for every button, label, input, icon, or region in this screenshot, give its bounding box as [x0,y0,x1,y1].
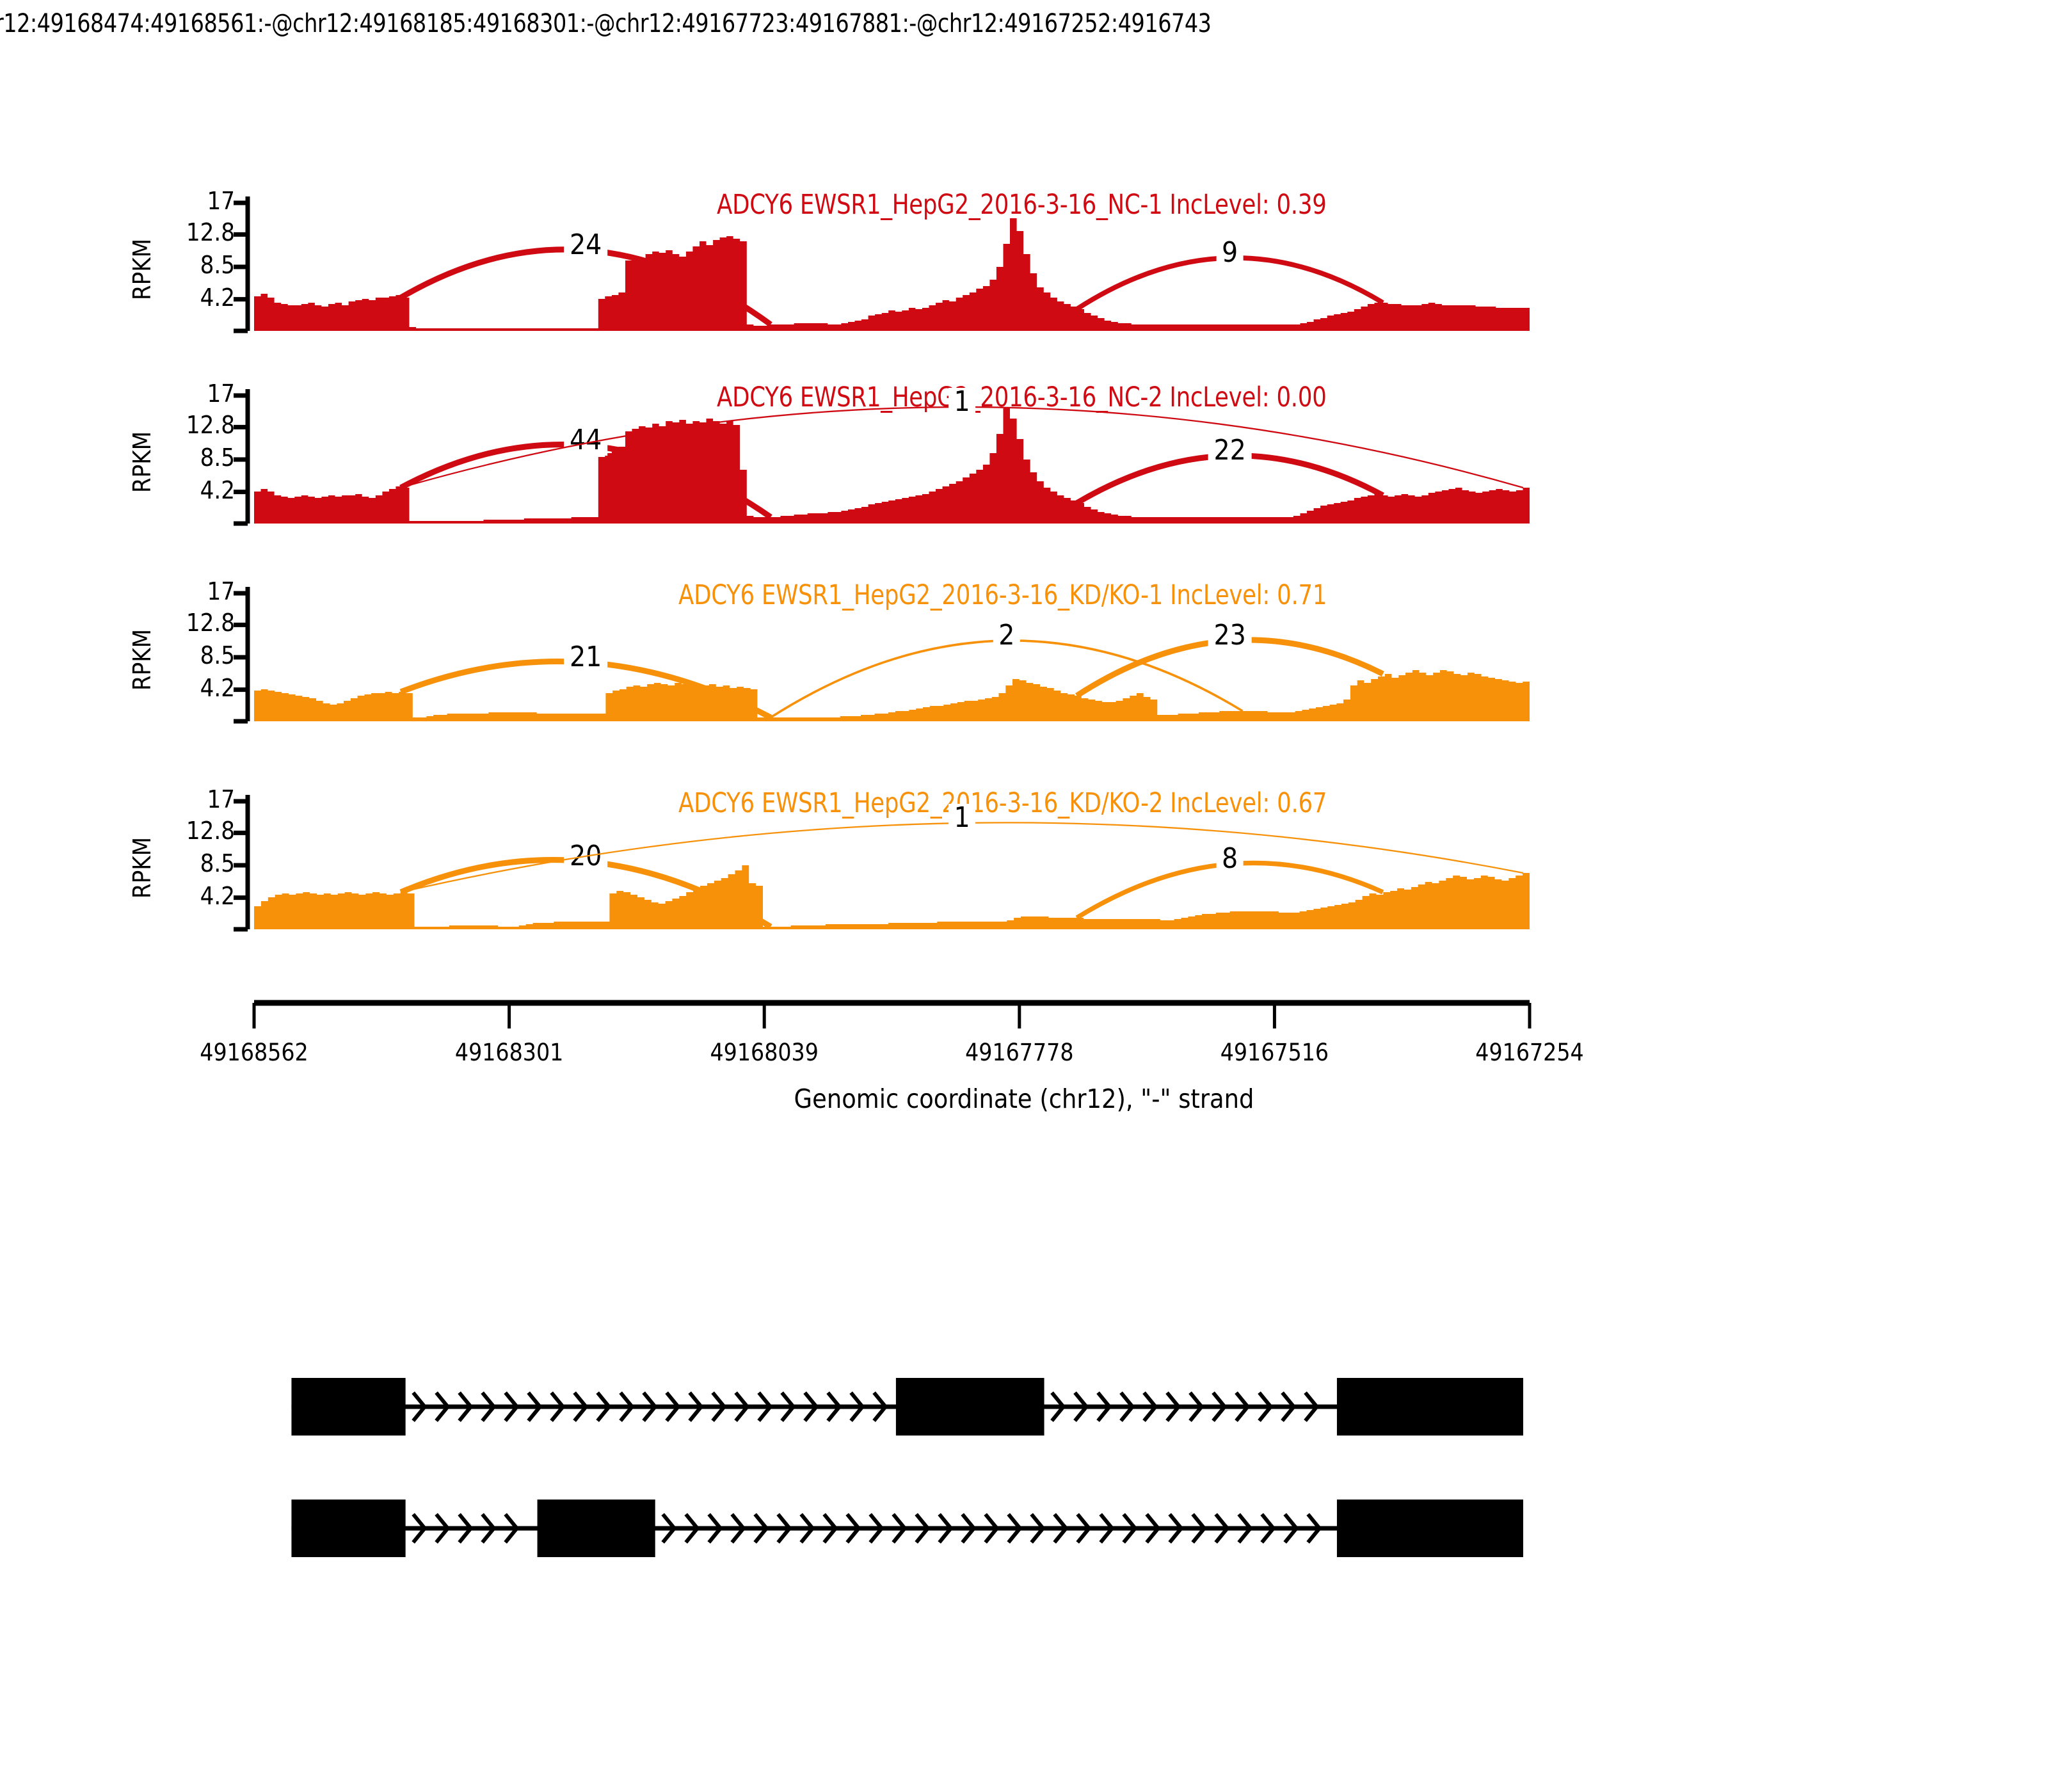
track-canvas: 21223 [0,560,2048,765]
exon-box [291,1378,405,1436]
track-canvas: 2018 [0,768,2048,973]
junction-read-count: 1 [954,801,970,834]
junction-read-count: 2 [998,619,1014,652]
junction-read-count: 24 [570,228,602,261]
gene-model-isoform [0,1370,2048,1446]
gene-model-isoform [0,1491,2048,1568]
junction-read-count: 23 [1213,619,1245,652]
x-axis-canvas [0,989,2048,1066]
track-canvas: 249 [0,170,2048,374]
exon-box [896,1378,1044,1436]
junction-read-count: 22 [1213,434,1245,467]
junction-read-count: 8 [1222,842,1238,875]
junction-read-count: 21 [570,641,602,673]
sashimi-plot: ADCY6 EWSR1_HepG2_2016-3-16_NC-1 IncLeve… [0,0,2048,1792]
junction-read-count: 1 [954,385,970,418]
exon-box [538,1500,655,1557]
x-axis-title: Genomic coordinate (chr12), "-" strand [0,1084,2048,1114]
exon-box [1337,1500,1523,1557]
exon-box [1337,1378,1523,1436]
junction-read-count: 44 [570,424,602,456]
exon-box [291,1500,405,1557]
junction-read-count: 9 [1222,236,1238,269]
track-canvas: 44122 [0,362,2048,567]
